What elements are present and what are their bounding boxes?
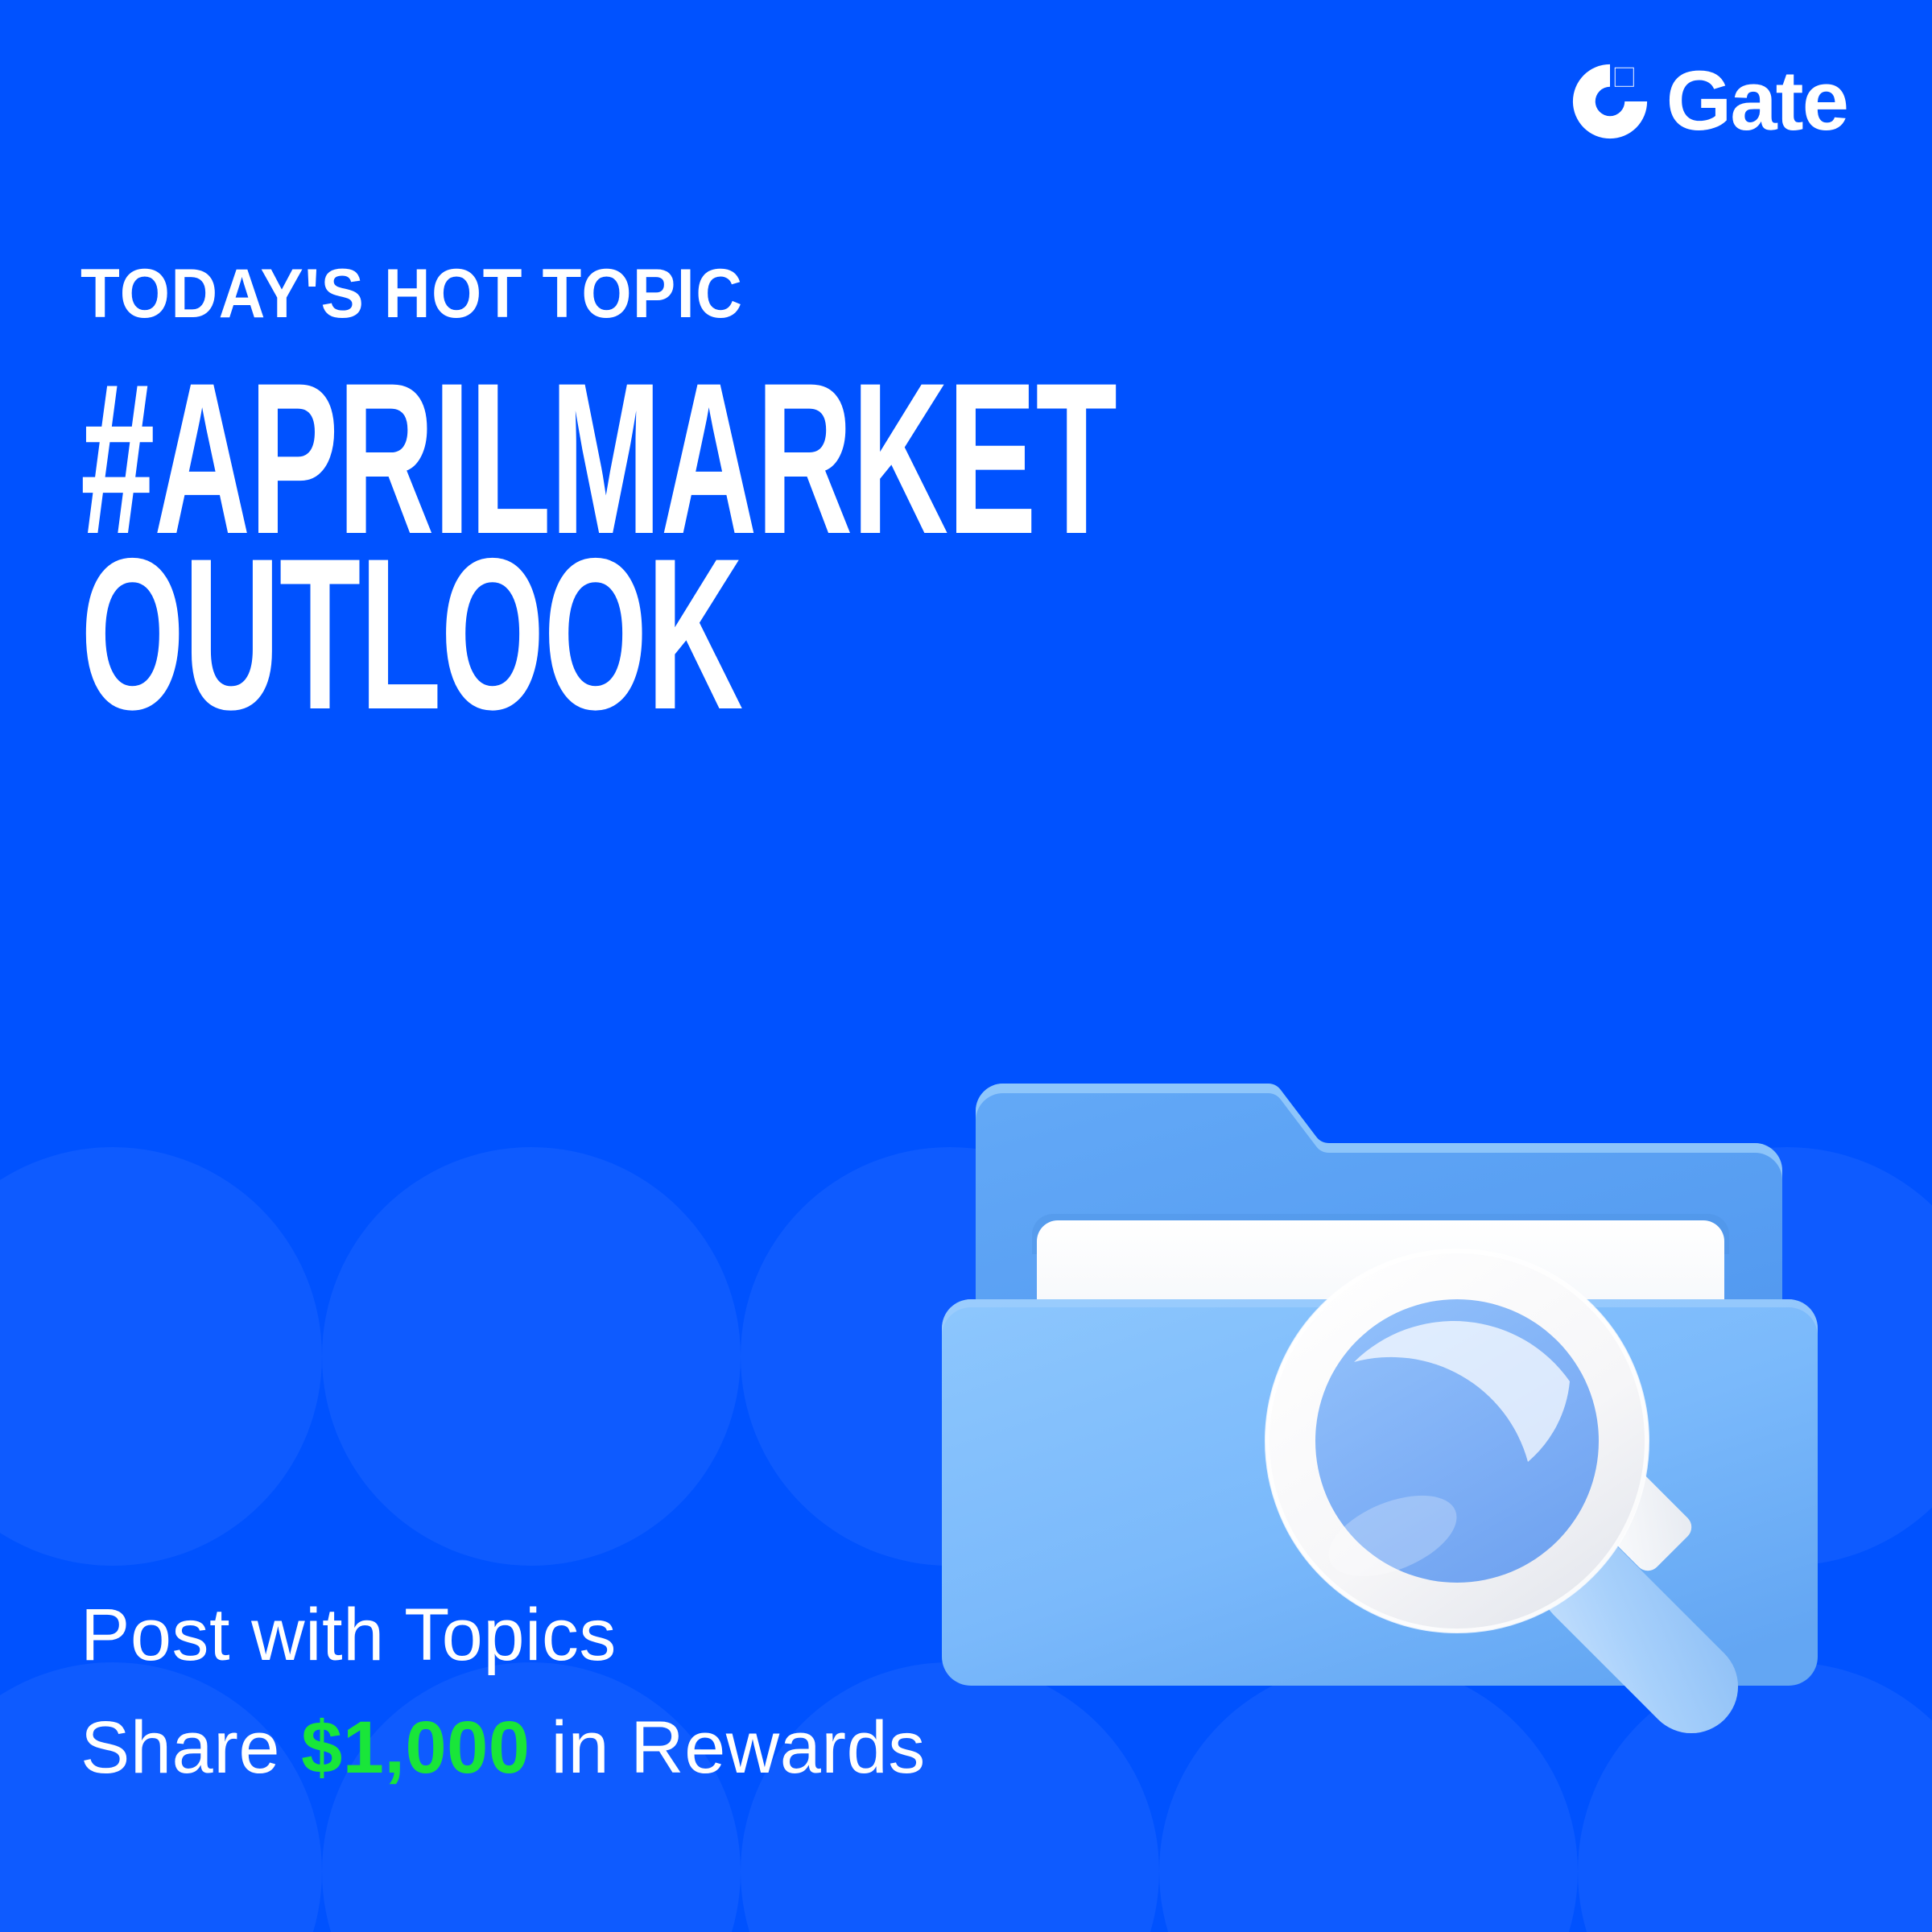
magnifier-lens [1265,1249,1649,1633]
bg-circle [322,1147,741,1566]
gate-wordmark: Gate [1666,64,1847,140]
reward-amount: $1,000 [301,1707,530,1789]
gate-circle-mark-icon [1571,63,1649,140]
share-suffix: in Rewards [530,1707,925,1789]
folder-with-magnifier-illustration [942,1063,1851,1876]
eyebrow-label: TODAY'S HOT TOPIC [80,259,1503,328]
gate-logo[interactable]: Gate [1571,63,1847,140]
share-prefix: Share [80,1707,301,1789]
headline-line-2: OUTLOOK [80,539,1029,729]
promo-banner: Gate TODAY'S HOT TOPIC #APRILMARKET OUTL… [0,0,1932,1932]
headline-block: TODAY'S HOT TOPIC #APRILMARKET OUTLOOK [80,259,1610,729]
bg-circle [0,1147,322,1566]
